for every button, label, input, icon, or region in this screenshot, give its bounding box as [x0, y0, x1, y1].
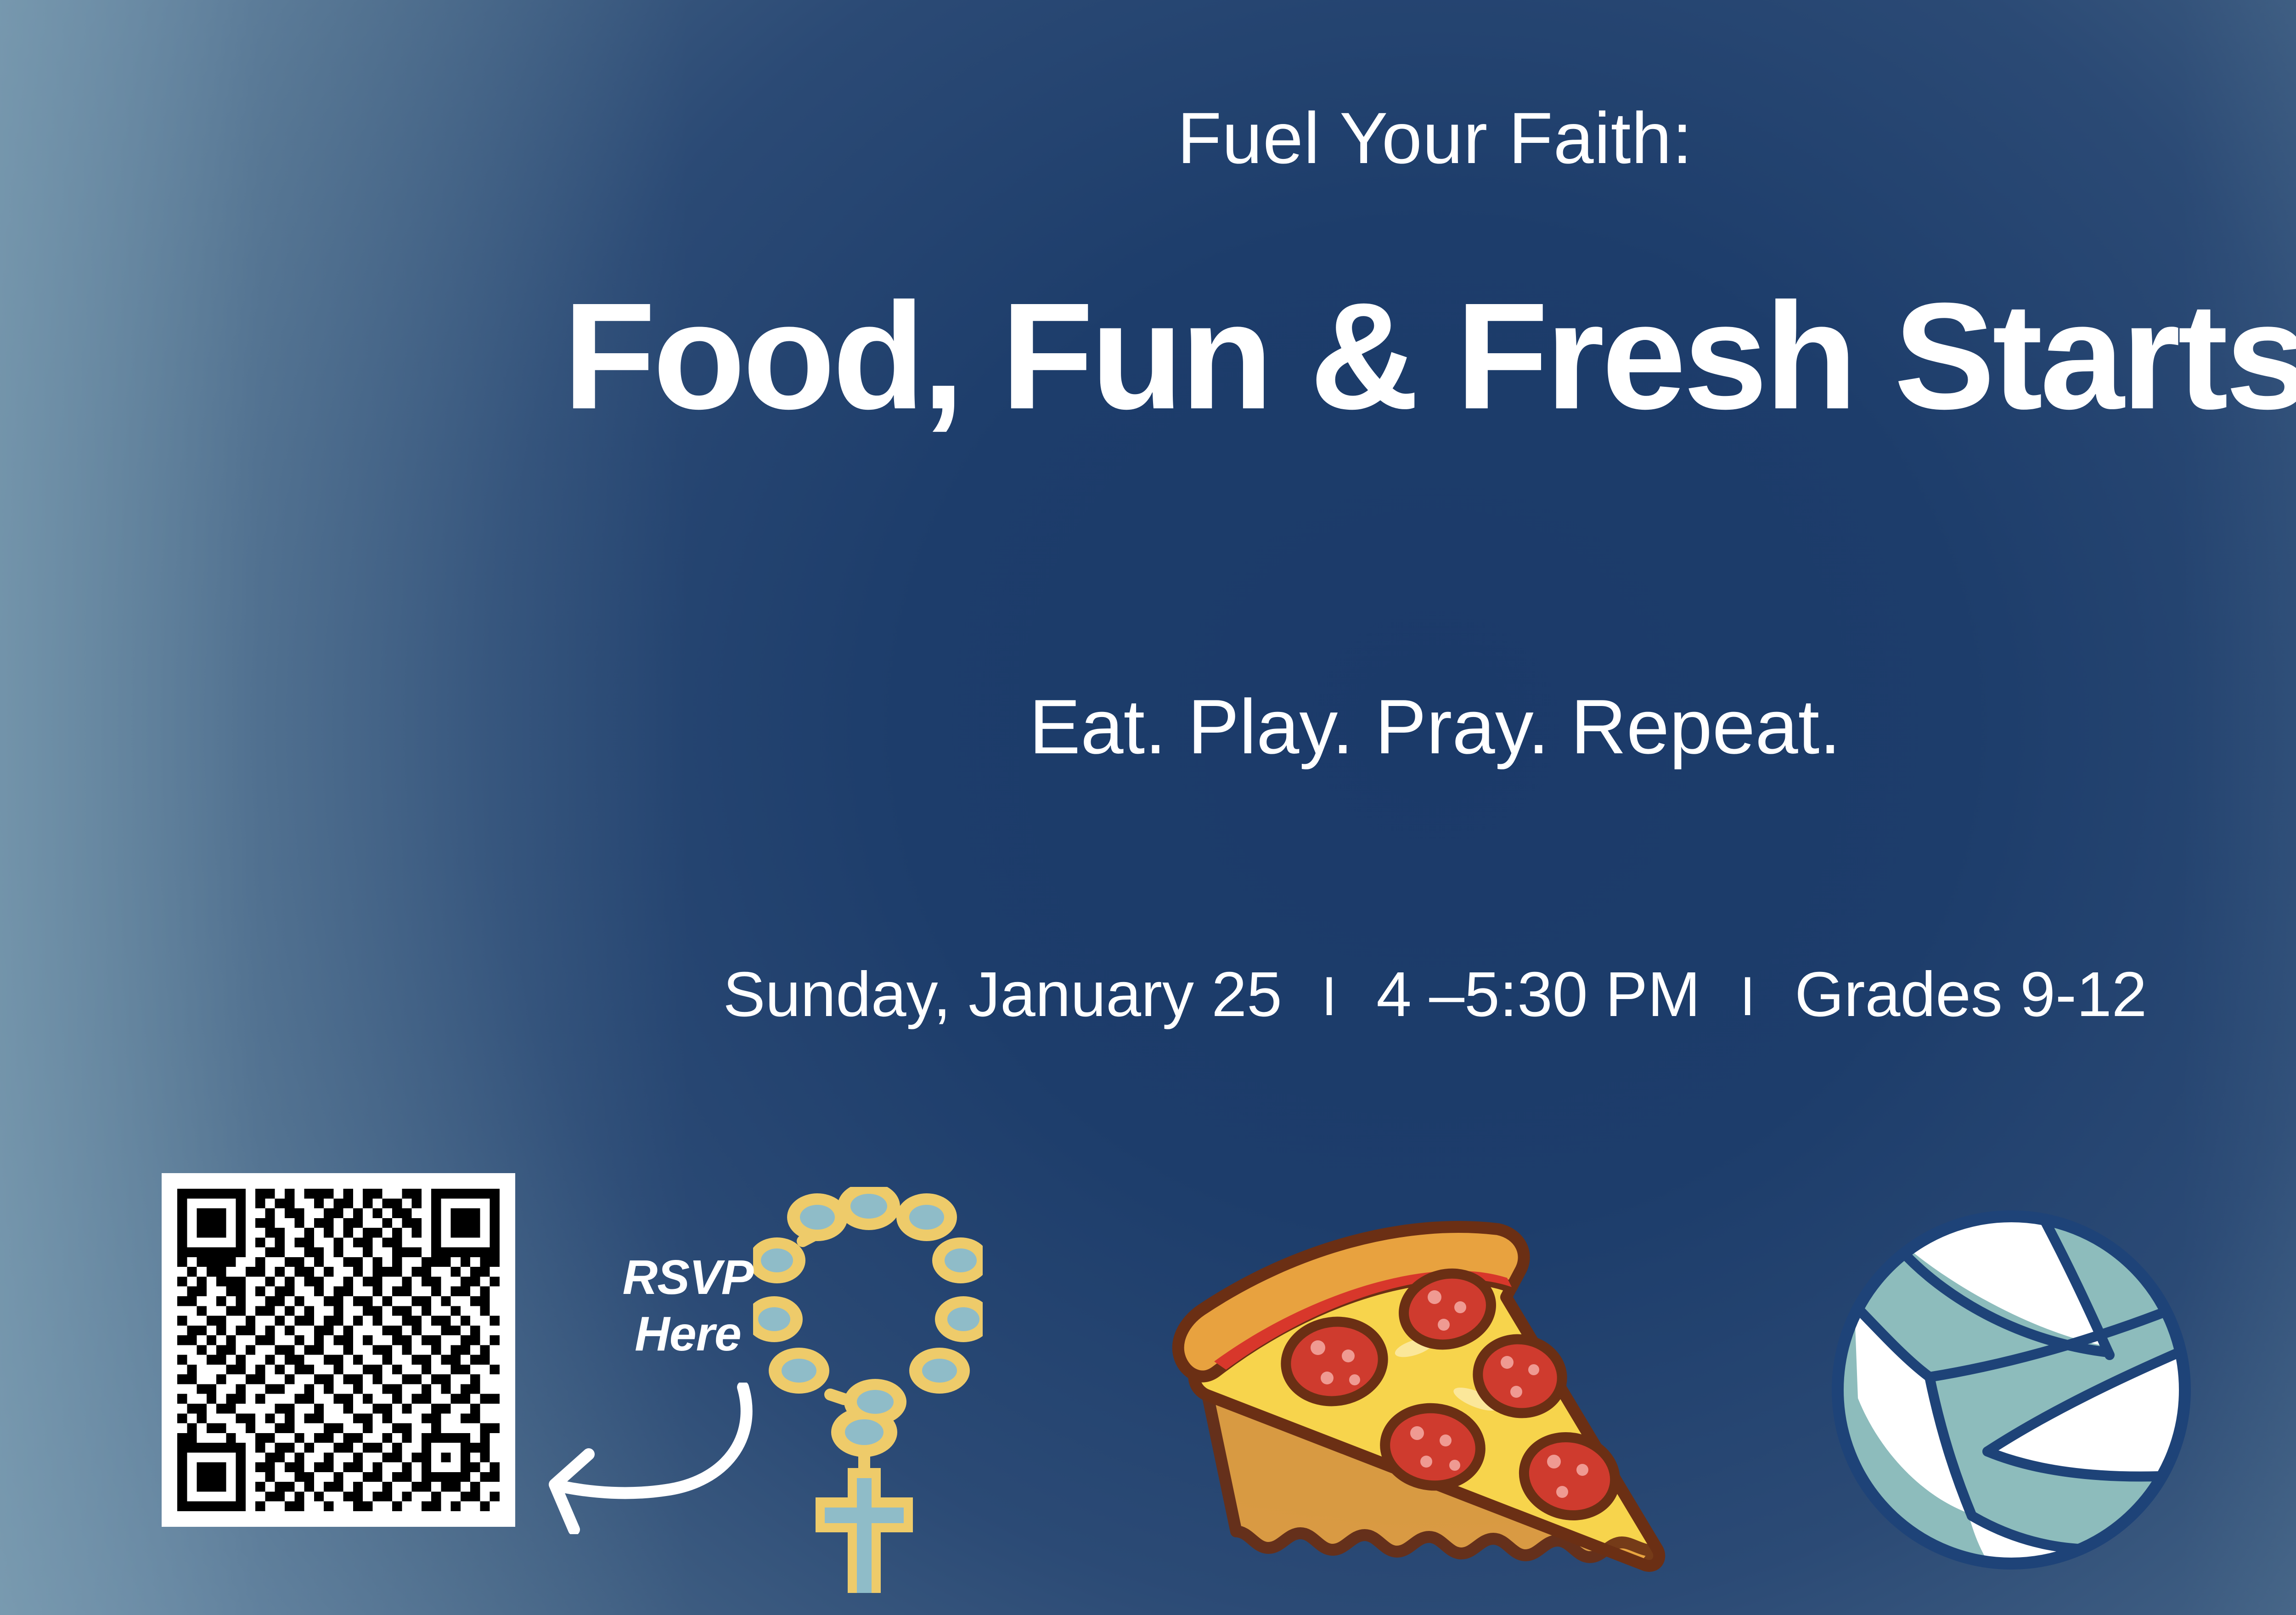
pizza-slice-icon	[1157, 1210, 1699, 1587]
event-flyer: Fuel Your Faith: Food, Fun & Fresh Start…	[0, 0, 2296, 1615]
rsvp-qr-code[interactable]	[162, 1173, 515, 1527]
rsvp-label: RSVP Here	[591, 1249, 784, 1362]
curved-arrow-icon	[528, 1383, 767, 1534]
eyebrow-text: Fuel Your Faith:	[0, 102, 2296, 175]
volleyball-icon	[1828, 1191, 2195, 1591]
rsvp-line-2: Here	[591, 1306, 784, 1362]
rosary-icon	[753, 1187, 983, 1600]
rsvp-line-1: RSVP	[591, 1249, 784, 1306]
qr-code-image[interactable]	[177, 1189, 500, 1511]
